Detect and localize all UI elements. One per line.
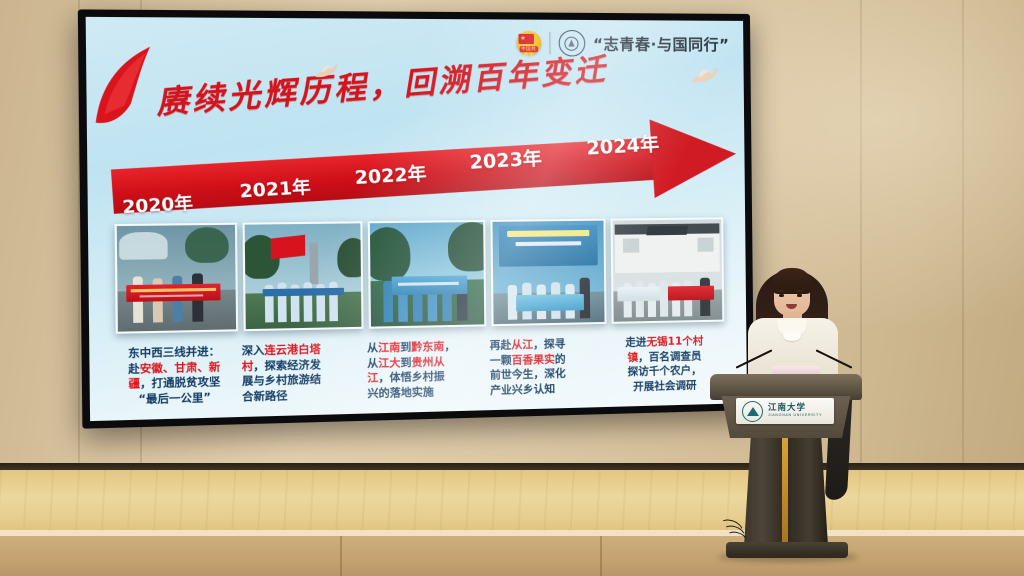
caption-line: 兴的落地实施	[367, 383, 480, 401]
year-label-2020: 2020年	[121, 188, 193, 219]
apron-seam	[340, 536, 342, 576]
lectern-with-speaker: 江南大学 JIANGNAN UNIVERSITY	[700, 262, 890, 562]
year-label-2024: 2024年	[585, 129, 660, 161]
lectern-gold-stripe	[782, 438, 788, 544]
speaker-brow	[796, 290, 803, 292]
photo-strip	[115, 217, 723, 338]
lectern-name-en: JIANGNAN UNIVERSITY	[768, 414, 822, 418]
slide-header-title: “志青春·与国同行”	[593, 33, 730, 55]
dove-icon	[687, 64, 723, 88]
lectern-nameplate: 江南大学 JIANGNAN UNIVERSITY	[736, 398, 834, 424]
caption-2023: 再赴从江，探寻一颗百香果实的前世今生，深化产业兴乡认知	[490, 336, 602, 398]
speaker-bow-tie	[783, 330, 801, 341]
jiangnan-university-logo-icon	[742, 401, 763, 422]
speaker-eye	[779, 294, 784, 297]
caption-line: “最后一公里”	[114, 389, 235, 407]
lectern-name-text: 江南大学 JIANGNAN UNIVERSITY	[768, 404, 822, 418]
caption-2022: 从江南到黔东南，从江大到贵州从江，体悟乡村振兴的落地实施	[367, 339, 481, 401]
caption-2020: 东中西三线并进：赴安徽、甘肃、新疆，打通脱贫攻坚“最后一公里”	[114, 344, 235, 408]
projection-screen[interactable]: ★ 中国共青团 “志青春·与国同行”	[78, 9, 754, 428]
caption-line: 产业兴乡认知	[490, 380, 601, 398]
speaker-brow	[778, 290, 785, 292]
caption-line: 疆，打通脱贫攻坚	[114, 374, 235, 392]
photo-2022[interactable]	[368, 220, 487, 329]
year-label-2023: 2023年	[469, 144, 543, 175]
caption-2021: 深入连云港白塔村，探索经济发展与乡村旅游结合新路径	[242, 341, 358, 404]
year-label-group: 2020年 2021年 2022年 2023年 2024年	[110, 117, 739, 231]
speech-notes	[772, 366, 820, 374]
slide-main-title: 赓续光辉历程，回溯百年变迁	[154, 44, 610, 123]
caption-line: 合新路径	[242, 386, 358, 404]
speaker-eye	[797, 294, 802, 297]
presentation-room-scene: ★ 中国共青团 “志青春·与国同行”	[0, 0, 1024, 576]
photo-2020[interactable]	[115, 223, 239, 334]
timeline-arrow: 2020年 2021年 2022年 2023年 2024年	[110, 117, 739, 231]
photo-2021[interactable]	[242, 221, 363, 331]
lectern-name-cn: 江南大学	[768, 404, 822, 413]
apron-seam	[600, 536, 602, 576]
year-label-2022: 2022年	[354, 159, 428, 190]
slide-content: ★ 中国共青团 “志青春·与国同行”	[86, 17, 747, 421]
photo-2023[interactable]	[490, 219, 606, 327]
lectern-floor-shadow	[718, 552, 858, 562]
year-label-2021: 2021年	[239, 173, 312, 203]
